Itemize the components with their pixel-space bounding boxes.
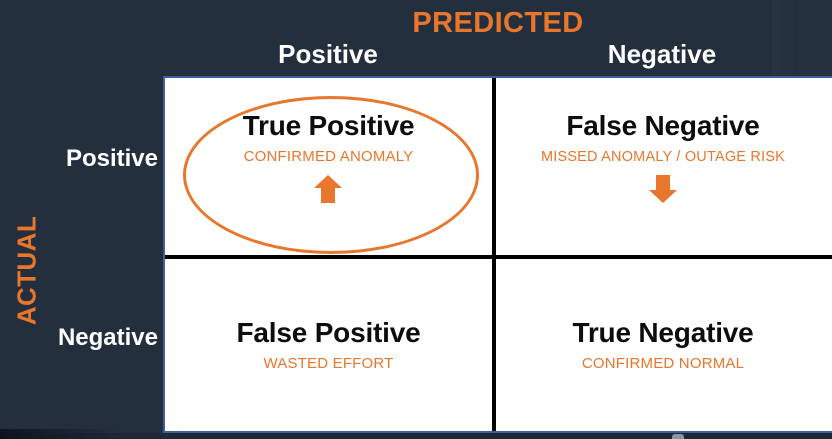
cell-false-positive: False Positive WASTED EFFORT xyxy=(165,259,492,431)
confusion-matrix-grid: True Positive CONFIRMED ANOMALY False Ne… xyxy=(163,76,832,433)
bottom-edge-strip xyxy=(0,433,832,439)
predicted-axis-title-text: PREDICTED xyxy=(412,7,583,39)
cell-true-negative-title: True Negative xyxy=(572,317,753,349)
predicted-axis-title: PREDICTED xyxy=(0,8,832,38)
bottom-partial-glyph xyxy=(672,434,684,439)
cell-false-negative-subtitle: MISSED ANOMALY / OUTAGE RISK xyxy=(541,148,785,166)
cell-true-negative: True Negative CONFIRMED NORMAL xyxy=(496,259,830,431)
row-header-negative: Negative xyxy=(6,324,158,352)
cell-true-positive-content: True Positive CONFIRMED ANOMALY xyxy=(243,110,415,206)
column-header-positive: Positive xyxy=(164,39,492,69)
cell-true-positive-subtitle: CONFIRMED ANOMALY xyxy=(244,148,414,166)
cell-true-negative-subtitle: CONFIRMED NORMAL xyxy=(582,355,744,373)
bottom-left-vignette xyxy=(0,429,120,439)
cell-true-positive: True Positive CONFIRMED ANOMALY xyxy=(165,78,492,255)
cell-false-negative-title: False Negative xyxy=(566,110,759,142)
column-header-negative: Negative xyxy=(492,39,832,69)
actual-axis-title: ACTUAL xyxy=(12,211,43,331)
confusion-matrix-slide: PREDICTED ACTUAL Positive Negative Posit… xyxy=(0,0,832,439)
cell-false-negative: False Negative MISSED ANOMALY / OUTAGE R… xyxy=(496,78,830,255)
arrow-down-icon xyxy=(648,173,678,205)
cell-false-negative-content: False Negative MISSED ANOMALY / OUTAGE R… xyxy=(541,110,785,206)
cell-false-negative-arrow xyxy=(648,172,678,206)
cell-false-positive-subtitle: WASTED EFFORT xyxy=(263,355,393,373)
cell-true-positive-arrow xyxy=(313,172,343,206)
cell-false-positive-title: False Positive xyxy=(237,317,421,349)
row-header-positive: Positive xyxy=(6,145,158,173)
cell-true-positive-title: True Positive xyxy=(243,110,415,142)
arrow-up-icon xyxy=(313,173,343,205)
